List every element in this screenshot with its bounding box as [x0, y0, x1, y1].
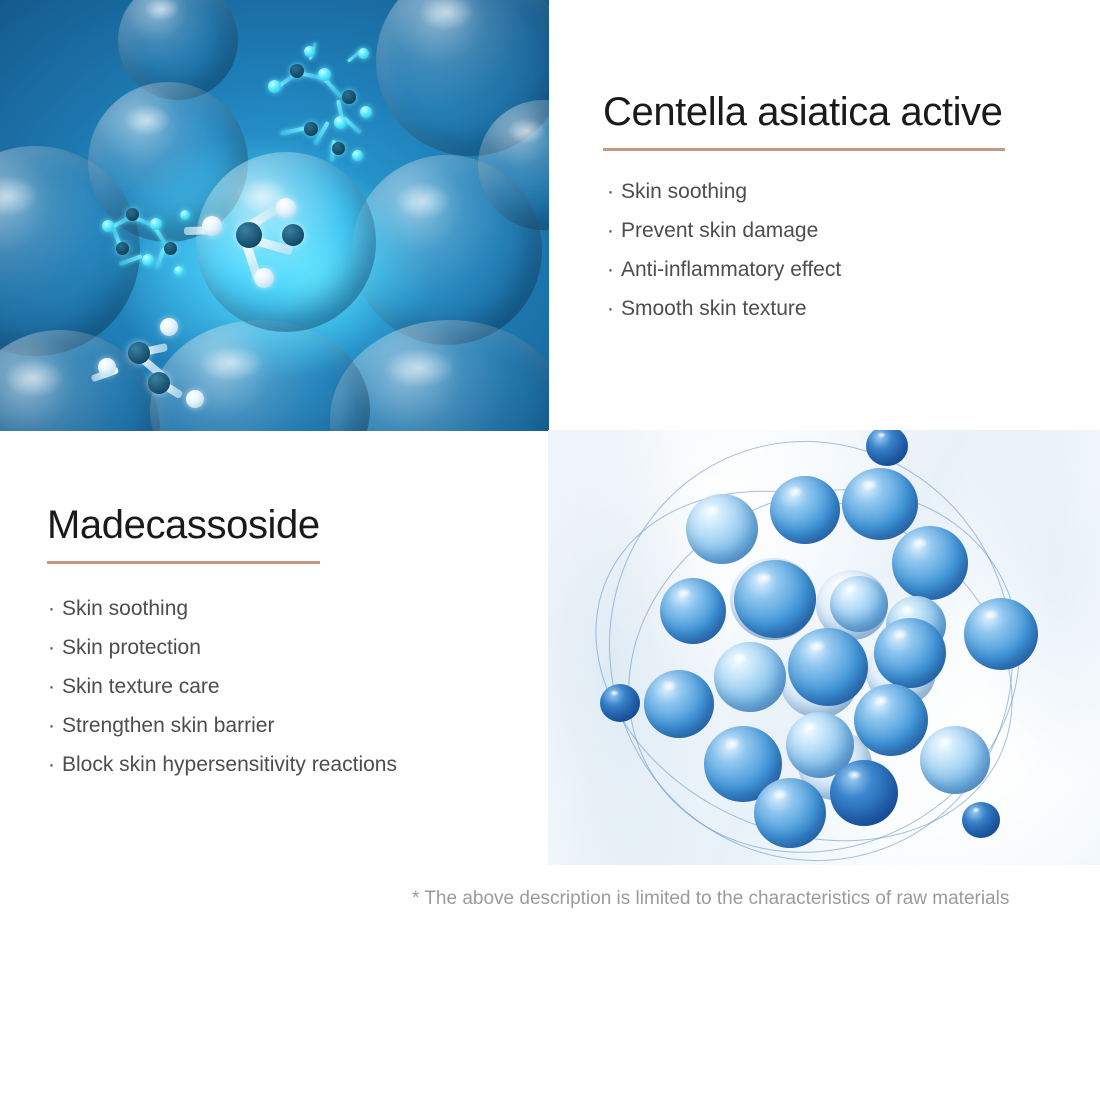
list-item: ·Skin soothing — [607, 172, 1063, 211]
sphere — [830, 760, 898, 826]
molecule-icon — [100, 308, 220, 418]
bullet-marker: · — [607, 297, 614, 320]
list-item-label: Anti-inflammatory effect — [621, 258, 841, 281]
sphere — [686, 494, 758, 564]
list-item: ·Block skin hypersensitivity reactions — [48, 745, 567, 784]
list-item-label: Skin texture care — [62, 675, 220, 698]
atom-cluster-image — [548, 430, 1100, 865]
sphere — [770, 476, 840, 544]
sphere — [854, 684, 928, 756]
satellite-sphere — [962, 802, 1000, 838]
madecassoside-heading-rule — [47, 561, 320, 564]
sphere — [788, 628, 868, 706]
list-item: ·Anti-inflammatory effect — [607, 250, 1063, 289]
bullet-marker: · — [607, 258, 614, 281]
list-item-label: Smooth skin texture — [621, 297, 807, 320]
list-item: ·Strengthen skin barrier — [48, 706, 567, 745]
sphere — [660, 578, 726, 644]
list-item-label: Skin soothing — [62, 597, 188, 620]
list-item-label: Skin protection — [62, 636, 201, 659]
sphere — [644, 670, 714, 738]
footnote-text: * The above description is limited to th… — [412, 888, 1009, 910]
bullet-marker: · — [48, 753, 55, 776]
list-item: ·Skin protection — [48, 628, 567, 667]
sphere — [874, 618, 946, 688]
sphere — [842, 468, 918, 540]
molecule-icon — [196, 172, 326, 302]
sphere — [892, 526, 968, 600]
bullet-marker: · — [48, 675, 55, 698]
list-item: ·Prevent skin damage — [607, 211, 1063, 250]
bullet-marker: · — [607, 180, 614, 203]
molecule-icon — [248, 42, 388, 172]
list-item-label: Skin soothing — [621, 180, 747, 203]
list-item: ·Skin soothing — [48, 589, 567, 628]
centella-section: Centella asiatica active ·Skin soothing … — [603, 92, 1063, 328]
list-item-label: Block skin hypersensitivity reactions — [62, 753, 397, 776]
bullet-marker: · — [48, 597, 55, 620]
sphere — [920, 726, 990, 794]
bubbles-image — [0, 0, 549, 431]
centella-bullet-list: ·Skin soothing ·Prevent skin damage ·Ant… — [607, 172, 1063, 328]
satellite-sphere — [600, 684, 640, 722]
bullet-marker: · — [48, 714, 55, 737]
list-item: ·Skin texture care — [48, 667, 567, 706]
list-item-label: Prevent skin damage — [621, 219, 818, 242]
madecassoside-bullet-list: ·Skin soothing ·Skin protection ·Skin te… — [48, 589, 567, 784]
madecassoside-heading: Madecassoside — [47, 505, 567, 545]
bullet-marker: · — [48, 636, 55, 659]
sphere — [754, 778, 826, 848]
centella-heading: Centella asiatica active — [603, 92, 1063, 132]
sphere — [714, 642, 786, 712]
bullet-marker: · — [607, 219, 614, 242]
list-item: ·Smooth skin texture — [607, 289, 1063, 328]
molecule-icon — [92, 192, 207, 292]
list-item-label: Strengthen skin barrier — [62, 714, 274, 737]
sphere — [964, 598, 1038, 670]
madecassoside-section: Madecassoside ·Skin soothing ·Skin prote… — [47, 505, 567, 784]
sphere — [830, 576, 888, 632]
sphere — [734, 560, 816, 638]
centella-heading-rule — [603, 148, 1005, 151]
